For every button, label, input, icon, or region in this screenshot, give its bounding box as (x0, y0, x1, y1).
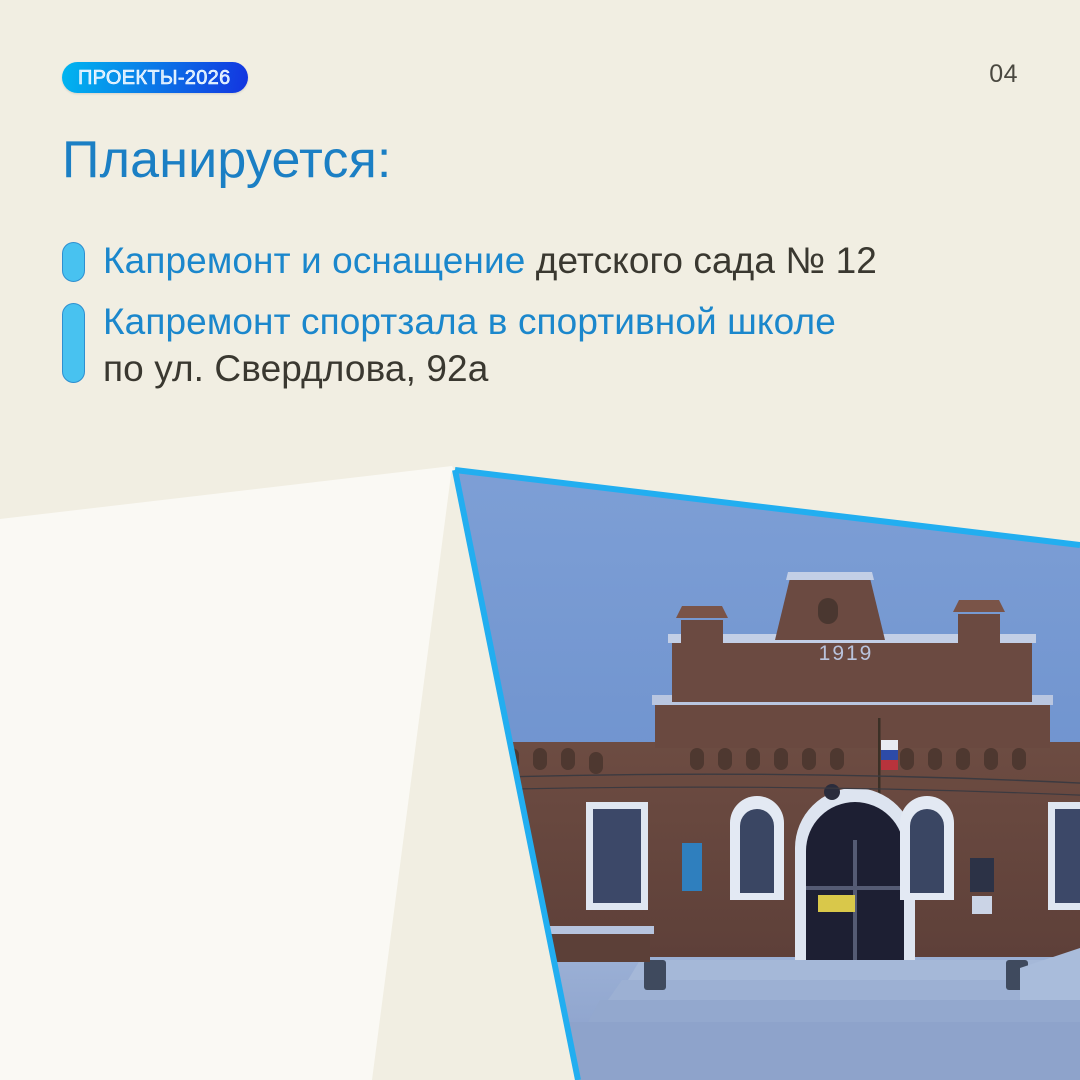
list-item-text: Капремонт спортзала в спортивной школепо… (103, 299, 836, 393)
list-item-highlight: Капремонт спортзала в спортивной школе (103, 301, 836, 342)
planned-items-list: Капремонт и оснащение детского сада № 12… (62, 238, 1022, 407)
projects-badge[interactable]: ПРОЕКТЫ-2026 (62, 62, 248, 93)
list-item-rest: по ул. Свердлова, 92а (103, 348, 488, 389)
list-item-highlight: Капремонт и оснащение (103, 240, 536, 281)
list-item-text: Капремонт и оснащение детского сада № 12 (103, 238, 877, 285)
page-title: Планируется: (62, 133, 392, 188)
list-item-rest: детского сада № 12 (536, 240, 877, 281)
list-item: Капремонт спортзала в спортивной школепо… (62, 299, 1022, 393)
bullet-pill-icon (62, 242, 85, 282)
bullet-pill-icon (62, 303, 85, 383)
page-number: 04 (989, 60, 1018, 89)
slide-root: 1919 (0, 0, 1080, 1080)
list-item: Капремонт и оснащение детского сада № 12 (62, 238, 1022, 285)
projects-badge-label: ПРОЕКТЫ-2026 (78, 68, 231, 88)
